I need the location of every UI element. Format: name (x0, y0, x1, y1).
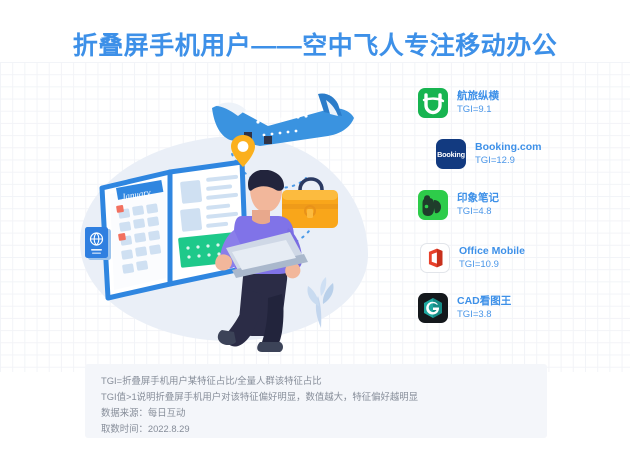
app-tgi: TGI=9.1 (457, 104, 499, 116)
app-text: 航旅纵横 TGI=9.1 (457, 90, 499, 115)
app-item-office-mobile[interactable]: Office Mobile TGI=10.9 (420, 243, 525, 273)
illustration: January (78, 78, 418, 368)
passport-icon (84, 226, 114, 262)
hangluzongheng-icon (418, 88, 448, 118)
app-item-cad-kantuwang[interactable]: CAD看图王 TGI=3.8 (418, 293, 511, 323)
cad-kantuwang-icon (418, 293, 448, 323)
app-text: 印象笔记 TGI=4.8 (457, 192, 499, 217)
app-tgi: TGI=12.9 (475, 155, 542, 167)
app-list: 航旅纵横 TGI=9.1 Booking Booking.com TGI=12.… (418, 88, 623, 340)
app-text: Office Mobile TGI=10.9 (459, 245, 525, 270)
app-item-evernote[interactable]: 印象笔记 TGI=4.8 (418, 190, 499, 220)
footnote-box: TGI=折叠屏手机用户某特征占比/全量人群该特征占比 TGI值>1说明折叠屏手机… (85, 364, 547, 438)
infographic-page: 折叠屏手机用户——空中飞人专注移动办公 (0, 0, 630, 454)
location-pin-icon (230, 134, 256, 168)
person-with-laptop (204, 170, 316, 352)
footnote-line-4: 取数时间：2022.8.29 (101, 422, 547, 436)
app-name: 航旅纵横 (457, 90, 499, 103)
office-mobile-icon (420, 243, 450, 273)
evernote-icon (418, 190, 448, 220)
app-name: 印象笔记 (457, 192, 499, 205)
footnote-line-3: 数据来源：每日互动 (101, 406, 547, 420)
footnote-line-2: TGI值>1说明折叠屏手机用户对该特征偏好明显，数值越大，特征偏好越明显 (101, 390, 547, 404)
app-text: Booking.com TGI=12.9 (475, 141, 542, 166)
app-tgi: TGI=3.8 (457, 309, 511, 321)
app-name: Office Mobile (459, 245, 525, 258)
app-tgi: TGI=10.9 (459, 259, 525, 271)
app-item-hangluzongheng[interactable]: 航旅纵横 TGI=9.1 (418, 88, 499, 118)
footnote-line-1: TGI=折叠屏手机用户某特征占比/全量人群该特征占比 (101, 374, 547, 388)
booking-icon-label: Booking (437, 150, 465, 159)
app-tgi: TGI=4.8 (457, 206, 499, 218)
booking-icon: Booking (436, 139, 466, 169)
app-item-booking[interactable]: Booking Booking.com TGI=12.9 (436, 139, 542, 169)
page-title: 折叠屏手机用户——空中飞人专注移动办公 (0, 26, 630, 62)
app-name: CAD看图王 (457, 295, 511, 308)
app-name: Booking.com (475, 141, 542, 154)
app-text: CAD看图王 TGI=3.8 (457, 295, 511, 320)
